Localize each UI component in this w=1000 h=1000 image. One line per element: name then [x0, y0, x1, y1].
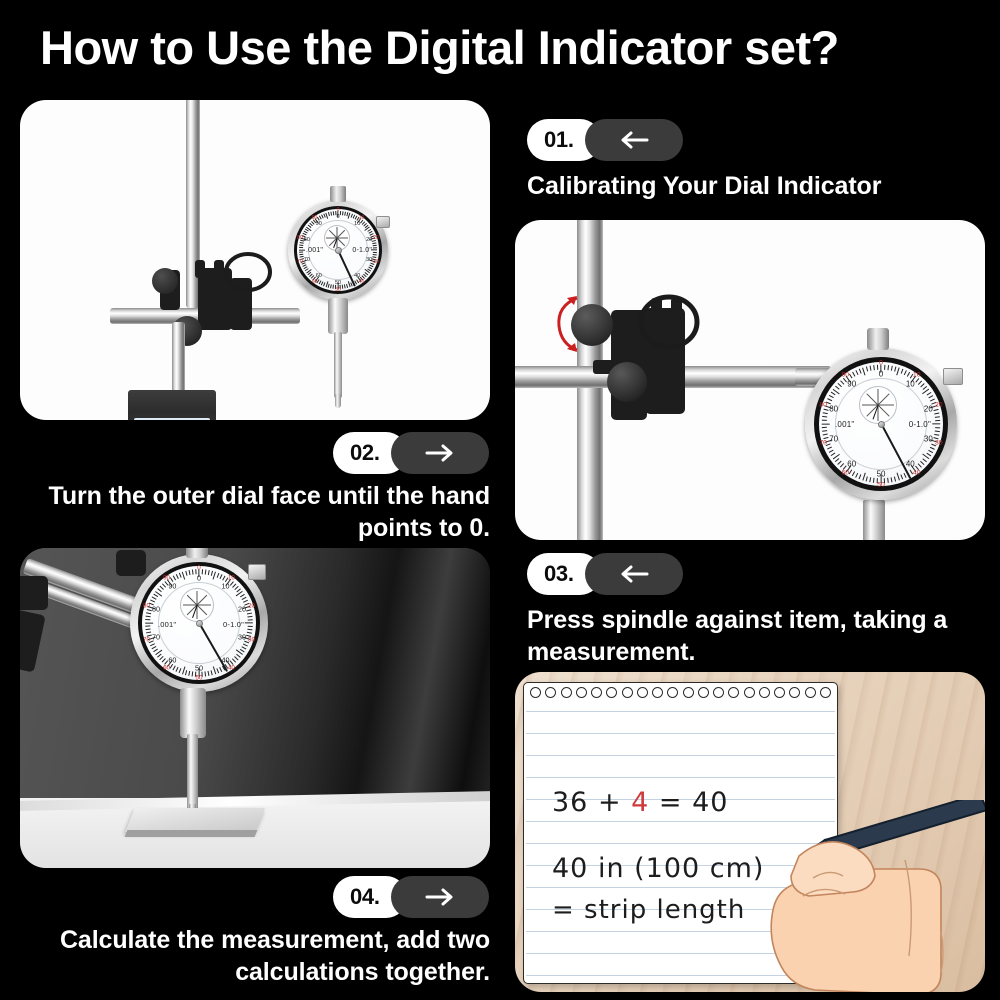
dial-number: 60 — [847, 460, 856, 469]
hand-with-pencil-illustration — [755, 800, 985, 992]
step-arrow-01[interactable] — [585, 119, 683, 161]
dial-number-red: 60 — [312, 279, 318, 285]
dial-number-red: 80 — [819, 402, 827, 409]
arrow-left-icon — [619, 130, 649, 150]
step-arrow-03[interactable] — [585, 553, 683, 595]
dial-number-red: 0 — [197, 564, 200, 571]
dial-number-red: 20 — [373, 235, 379, 241]
dial-number: 40 — [906, 460, 915, 469]
dial-number-red: 10 — [359, 215, 365, 221]
step-badge-02[interactable]: 02. — [333, 432, 407, 474]
photo-panel-calibration: 00109020803070406050506040703080209010 .… — [515, 220, 985, 540]
dial-range-label: 0-1.0" — [223, 620, 244, 629]
dial-number: 30 — [238, 632, 246, 641]
dial-number: 10 — [354, 221, 360, 227]
dial-number-red: 60 — [163, 664, 170, 671]
dial-number: 20 — [924, 404, 933, 413]
dial-number: 90 — [316, 221, 322, 227]
dial-number-red: 50 — [877, 481, 885, 488]
dial-number-red: 30 — [935, 439, 943, 446]
dial-number-red: 80 — [297, 235, 303, 241]
dial-range-label: 0-1.0" — [909, 420, 931, 429]
dial-indicator-gauge: 00109020803070406050506040703080209010 .… — [288, 200, 388, 300]
dial-number: 80 — [829, 404, 838, 413]
dial-number-red: 40 — [359, 279, 365, 285]
dial-number-red: 90 — [163, 575, 170, 582]
dial-number-red: 0 — [879, 360, 883, 367]
dial-number-red: 50 — [335, 287, 341, 293]
dial-graduation-label: .001" — [835, 420, 854, 429]
photo-panel-magnetic-base: ON OFF MAGNETIC BASE 0010902080307040605… — [20, 100, 490, 420]
infographic-page: How to Use the Digital Indicator set? ON… — [0, 0, 1000, 1000]
notepad-calculation-line-2: 40 in (100 cm) — [552, 853, 764, 884]
step-arrow-04[interactable] — [391, 876, 489, 918]
step-caption-03: Press spindle against item, taking a mea… — [527, 604, 977, 668]
dial-number-red: 50 — [196, 675, 203, 682]
photo-panel-measuring: 00109020803070406050506040703080209010 .… — [20, 548, 490, 868]
step-caption-04: Calculate the measurement, add two calcu… — [30, 924, 490, 988]
dial-graduation-label: .001" — [158, 620, 176, 629]
step-caption-02: Turn the outer dial face until the hand … — [30, 480, 490, 544]
step-caption-01: Calibrating Your Dial Indicator — [527, 170, 977, 202]
clamp-wire-loop-icon — [633, 292, 707, 358]
dial-number: 80 — [304, 237, 310, 243]
dial-number: 70 — [304, 257, 310, 263]
dial-hub — [196, 620, 203, 627]
dial-number-red: 70 — [297, 259, 303, 265]
notepad-spiral-holes — [524, 687, 837, 700]
dial-number: 0 — [336, 214, 339, 220]
dial-number-red: 30 — [248, 637, 255, 644]
photo-panel-notepad: 36 + 4 = 40 40 in (100 cm) = strip lengt… — [515, 672, 985, 992]
arrow-right-icon — [425, 887, 455, 907]
calc-operand-part: 36 + — [552, 787, 631, 818]
dial-number: 70 — [152, 632, 160, 641]
dial-number: 0 — [879, 370, 883, 379]
dial-number: 10 — [222, 582, 230, 591]
step-badge-03[interactable]: 03. — [527, 553, 601, 595]
calc-red-number: 4 — [631, 787, 649, 818]
dial-hub — [878, 421, 885, 428]
dial-number-red: 60 — [841, 470, 849, 477]
dial-number: 50 — [195, 664, 203, 673]
dial-number-red: 20 — [935, 402, 943, 409]
dial-number-red: 70 — [819, 439, 827, 446]
clamp-wire-loop-icon — [220, 250, 276, 298]
step-badge-04[interactable]: 04. — [333, 876, 407, 918]
dial-hub — [335, 247, 342, 254]
arrow-left-icon — [619, 564, 649, 584]
dial-number: 10 — [906, 379, 915, 388]
dial-number-red: 0 — [337, 207, 340, 213]
dial-number: 90 — [847, 379, 856, 388]
step-badge-01[interactable]: 01. — [527, 119, 601, 161]
dial-graduation-label: .001" — [306, 247, 323, 254]
dial-indicator-gauge: 00109020803070406050506040703080209010 .… — [805, 348, 957, 500]
calc-result-part: = 40 — [649, 787, 728, 818]
dial-number-red: 20 — [248, 602, 255, 609]
dial-number: 30 — [924, 435, 933, 444]
rotate-arrow-icon — [553, 290, 587, 360]
step-arrow-02[interactable] — [391, 432, 489, 474]
revolution-counter — [859, 386, 897, 424]
dial-number-red: 90 — [841, 371, 849, 378]
notepad-calculation-line-1: 36 + 4 = 40 — [552, 787, 729, 818]
dial-number: 70 — [829, 435, 838, 444]
dial-number: 60 — [316, 273, 322, 279]
dial-number-red: 70 — [143, 637, 150, 644]
dial-number-red: 40 — [913, 470, 921, 477]
page-title: How to Use the Digital Indicator set? — [40, 22, 970, 74]
revolution-counter — [180, 588, 214, 622]
dial-number: 50 — [335, 280, 341, 286]
dial-number: 0 — [197, 573, 201, 582]
dial-range-label: 0-1.0" — [352, 247, 372, 254]
magnetic-base-body: ON OFF MAGNETIC BASE — [128, 414, 216, 420]
dial-number: 20 — [238, 605, 246, 614]
dial-number: 50 — [877, 469, 886, 478]
dial-number-red: 30 — [373, 259, 379, 265]
dial-number-red: 40 — [228, 664, 235, 671]
arrow-right-icon — [425, 443, 455, 463]
dial-number-red: 80 — [143, 602, 150, 609]
workpiece-plate — [125, 808, 265, 832]
dial-number: 80 — [152, 605, 160, 614]
dial-number: 20 — [366, 237, 372, 243]
dial-number-red: 10 — [913, 371, 921, 378]
dial-number: 30 — [366, 257, 372, 263]
dial-number: 60 — [168, 655, 176, 664]
dial-number: 90 — [168, 582, 176, 591]
notepad-calculation-line-3: = strip length — [552, 895, 745, 925]
dial-number-red: 10 — [228, 575, 235, 582]
